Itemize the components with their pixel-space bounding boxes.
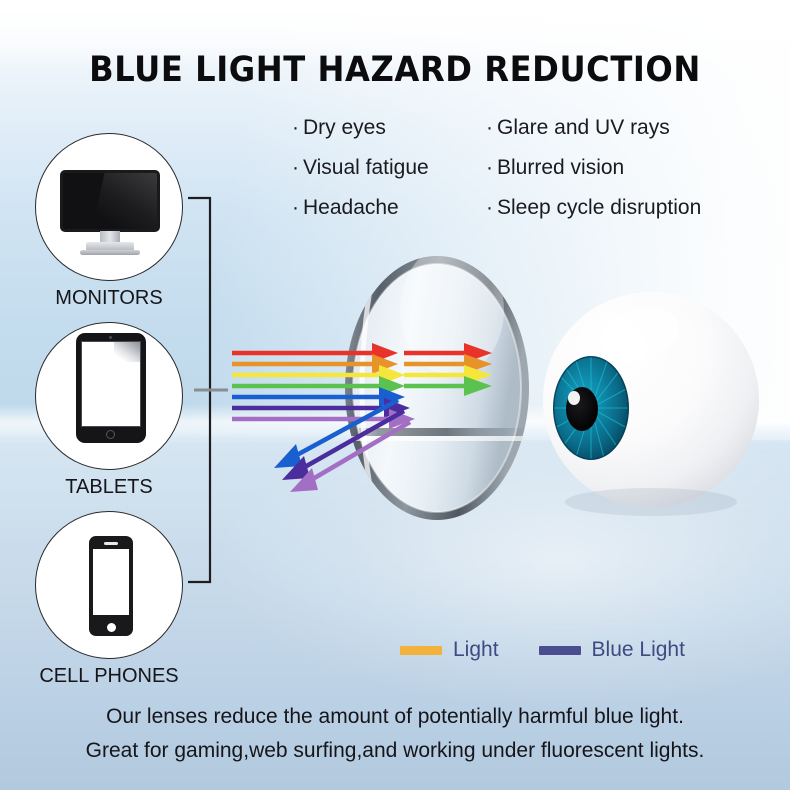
light-ray-diagram xyxy=(0,0,790,790)
legend-item-light: Light xyxy=(400,638,499,662)
legend: Light Blue Light xyxy=(400,638,685,662)
eyeball xyxy=(543,292,759,516)
legend-swatch-blue-light xyxy=(539,646,581,655)
caption-line-2: Great for gaming,web surfing,and working… xyxy=(0,734,790,768)
legend-item-blue-light: Blue Light xyxy=(539,638,685,662)
ray-blue xyxy=(232,387,405,407)
legend-label-light: Light xyxy=(453,638,499,662)
caption: Our lenses reduce the amount of potentia… xyxy=(0,700,790,768)
caption-line-1: Our lenses reduce the amount of potentia… xyxy=(0,700,790,734)
legend-label-blue-light: Blue Light xyxy=(592,638,685,662)
eyeglass-lens xyxy=(345,244,529,520)
ray-orange xyxy=(232,354,398,374)
incoming-light-rays xyxy=(232,343,415,429)
legend-swatch-light xyxy=(400,646,442,655)
infographic-poster: BLUE LIGHT HAZARD REDUCTION ·Dry eyes ·V… xyxy=(0,0,790,790)
